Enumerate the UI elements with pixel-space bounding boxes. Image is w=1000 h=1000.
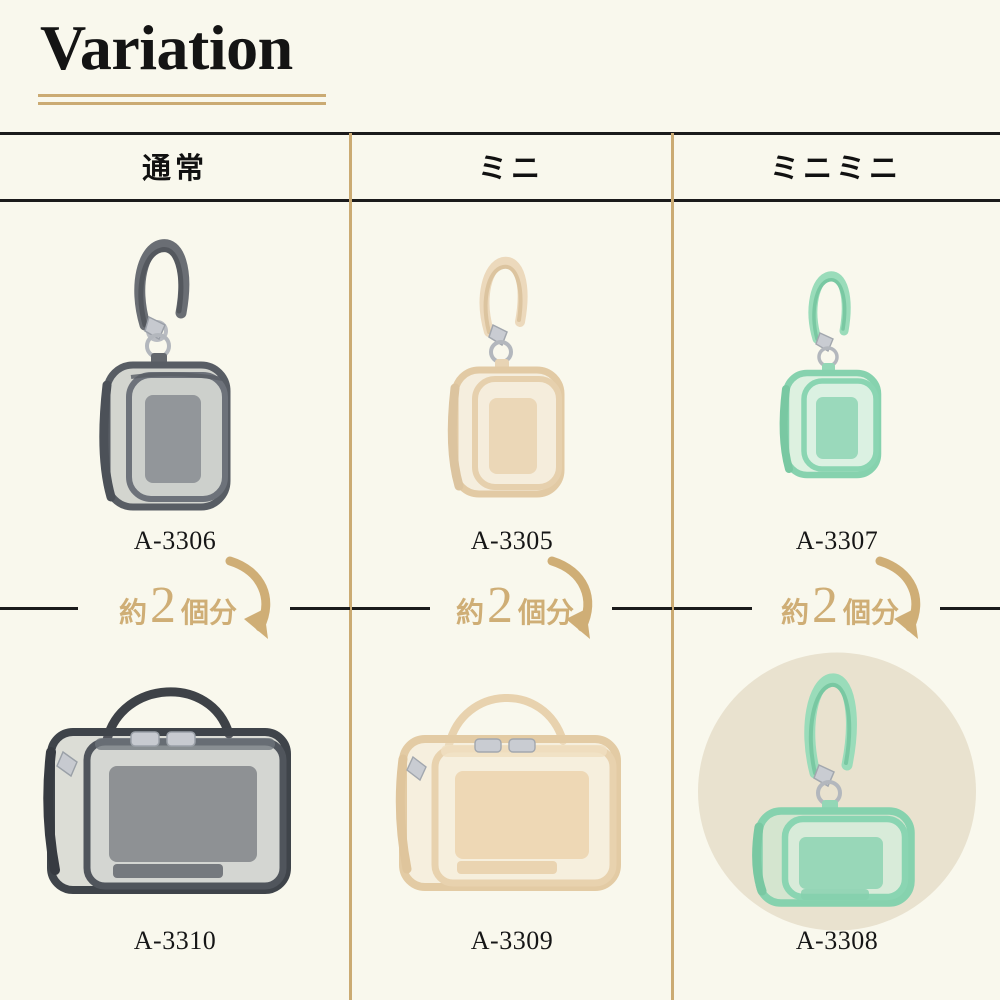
product-cell-a3309[interactable]: A-3309 xyxy=(352,645,672,1000)
annotation-prefix: 約 xyxy=(781,591,809,631)
annotation-rule-left xyxy=(0,607,78,610)
annotation-band-col3: 約 2 個分 xyxy=(674,571,1000,645)
product-cell-a3310[interactable]: A-3310 xyxy=(0,645,350,1000)
product-cell-a3308[interactable]: A-3308 xyxy=(674,645,1000,1000)
column-header-mini: ミニ xyxy=(350,133,672,199)
pouch-illustration-charcoal xyxy=(85,213,265,513)
table-header-row: 通常 ミニ ミニミニ xyxy=(0,133,1000,199)
column-header-minimini: ミニミニ xyxy=(672,133,1000,199)
pouch-illustration-mint xyxy=(772,243,902,483)
annotation-rule-right xyxy=(612,607,672,610)
annotation-number: 2 xyxy=(487,585,513,627)
page-title: Variation xyxy=(40,16,293,80)
curved-arrow-icon xyxy=(216,555,288,651)
title-underline-lower xyxy=(38,102,326,105)
product-code-a3310: A-3310 xyxy=(134,926,216,1000)
product-code-a3306: A-3306 xyxy=(134,526,216,570)
product-image-a3307 xyxy=(674,200,1000,526)
annotation-prefix: 約 xyxy=(119,591,147,631)
product-image-a3309 xyxy=(352,645,672,926)
annotation-rule-left xyxy=(674,607,752,610)
product-cell-a3305[interactable]: A-3305 xyxy=(352,200,672,570)
annotation-band-col1: 約 2 個分 xyxy=(0,571,350,645)
column-header-normal: 通常 xyxy=(0,133,350,199)
product-cell-a3306[interactable]: A-3306 xyxy=(0,200,350,570)
case-illustration-charcoal xyxy=(35,656,315,916)
annotation-prefix: 約 xyxy=(456,591,484,631)
product-code-a3309: A-3309 xyxy=(471,926,553,1000)
curved-arrow-icon xyxy=(866,555,938,651)
annotation-rule-left xyxy=(352,607,430,610)
product-code-a3308: A-3308 xyxy=(796,926,878,1000)
case-illustration-beige xyxy=(387,661,637,911)
page-title-block: Variation xyxy=(40,16,293,80)
product-cell-a3307[interactable]: A-3307 xyxy=(674,200,1000,570)
annotation-rule-right xyxy=(290,607,350,610)
annotation-number: 2 xyxy=(812,585,838,627)
product-image-a3308 xyxy=(674,645,1000,926)
annotation-number: 2 xyxy=(150,585,176,627)
title-underline-upper xyxy=(38,94,326,97)
pouch-illustration-beige xyxy=(437,228,587,498)
curved-arrow-icon xyxy=(538,555,610,651)
annotation-rule-right xyxy=(940,607,1000,610)
variation-chart-page: Variation 通常 ミニ ミニミニ xyxy=(0,0,1000,1000)
pouch-illustration-mint-large xyxy=(737,661,937,911)
product-image-a3306 xyxy=(0,200,350,526)
product-image-a3305 xyxy=(352,200,672,526)
annotation-band-col2: 約 2 個分 xyxy=(352,571,672,645)
product-image-a3310 xyxy=(0,645,350,926)
